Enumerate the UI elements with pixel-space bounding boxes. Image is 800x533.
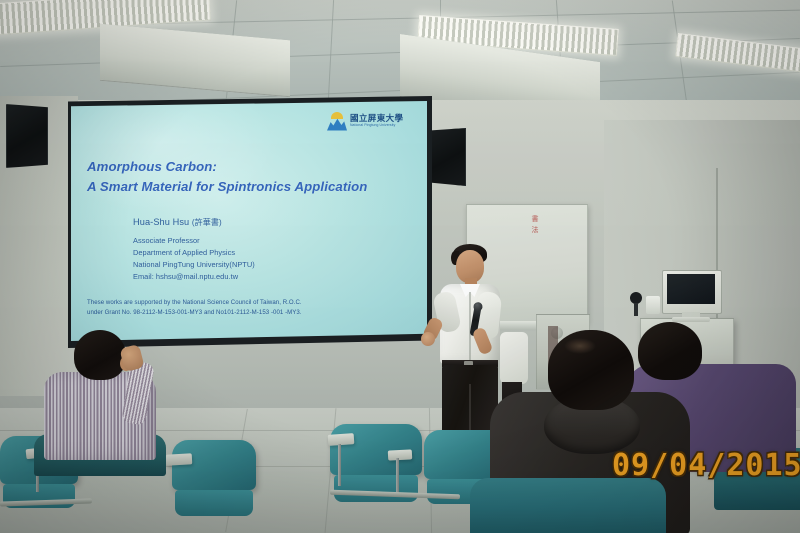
attendee-hair-highlight [564,338,596,354]
list-item [38,330,188,475]
seat-tablet-arm[interactable] [328,433,355,446]
slide-title-line1: Amorphous Carbon: [87,157,417,177]
author-name-chinese: (許華書) [192,218,222,227]
mountain-sun-icon [327,112,347,131]
whiteboard-writing: 書法 [529,215,541,236]
camera-stem [634,303,638,316]
lecture-hall-photo: 注意安全 書法 [0,0,800,533]
projection-screen: 國立屏東大學 National Pingtung University Amor… [71,101,427,341]
slide-title-line2: A Smart Material for Spintronics Applica… [87,177,417,197]
camera-date-stamp: 09/04/2015 [612,448,800,483]
affiliation-line: Department of Applied Physics [133,247,403,259]
seat-tablet-arm[interactable] [388,449,412,460]
affiliation-line: National PingTung University(NPTU) [133,259,403,271]
university-logo: 國立屏東大學 National Pingtung University [327,109,413,133]
attendee-head [74,330,126,380]
seat-tablet-post [396,458,399,496]
mountain-shape [327,118,347,131]
author-affiliation: Associate Professor Department of Applie… [133,235,403,283]
acknowledgement-line1: These works are supported by the Nationa… [87,298,407,308]
author-name: Hua-Shu Hsu (許華書) [133,217,403,228]
seat-pan [175,490,252,516]
presenter-left-hand [421,332,435,346]
slide-author-block: Hua-Shu Hsu (許華書) Associate Professor De… [133,217,403,283]
list-item [490,330,700,533]
slide-title: Amorphous Carbon: A Smart Material for S… [87,157,417,198]
logo-name-english: National Pingtung University [350,124,403,127]
logo-wordmark: 國立屏東大學 National Pingtung University [350,114,403,127]
desk-object [646,296,660,314]
acknowledgement-line2: under Grant No. 98-2112-M-153-001-MY3 an… [87,308,407,318]
camera-icon [630,292,642,316]
projection-screen-frame: 國立屏東大學 National Pingtung University Amor… [68,96,432,348]
attendee-seat [470,478,666,533]
presenter-leg-split [469,384,471,430]
affiliation-line: Associate Professor [133,235,403,247]
slide-acknowledgement: These works are supported by the Nationa… [87,298,407,319]
affiliation-email: Email: hshsu@mail.nptu.edu.tw [133,271,403,283]
seat-tablet-post [338,444,341,486]
monitor-screen [667,274,715,304]
wall-speaker-left-icon [6,104,48,168]
sun-shape [331,112,343,119]
seat-pan [334,475,419,502]
logo-name-chinese: 國立屏東大學 [350,114,403,123]
author-name-english: Hua-Shu Hsu [133,217,189,227]
crt-monitor-icon [662,270,720,322]
